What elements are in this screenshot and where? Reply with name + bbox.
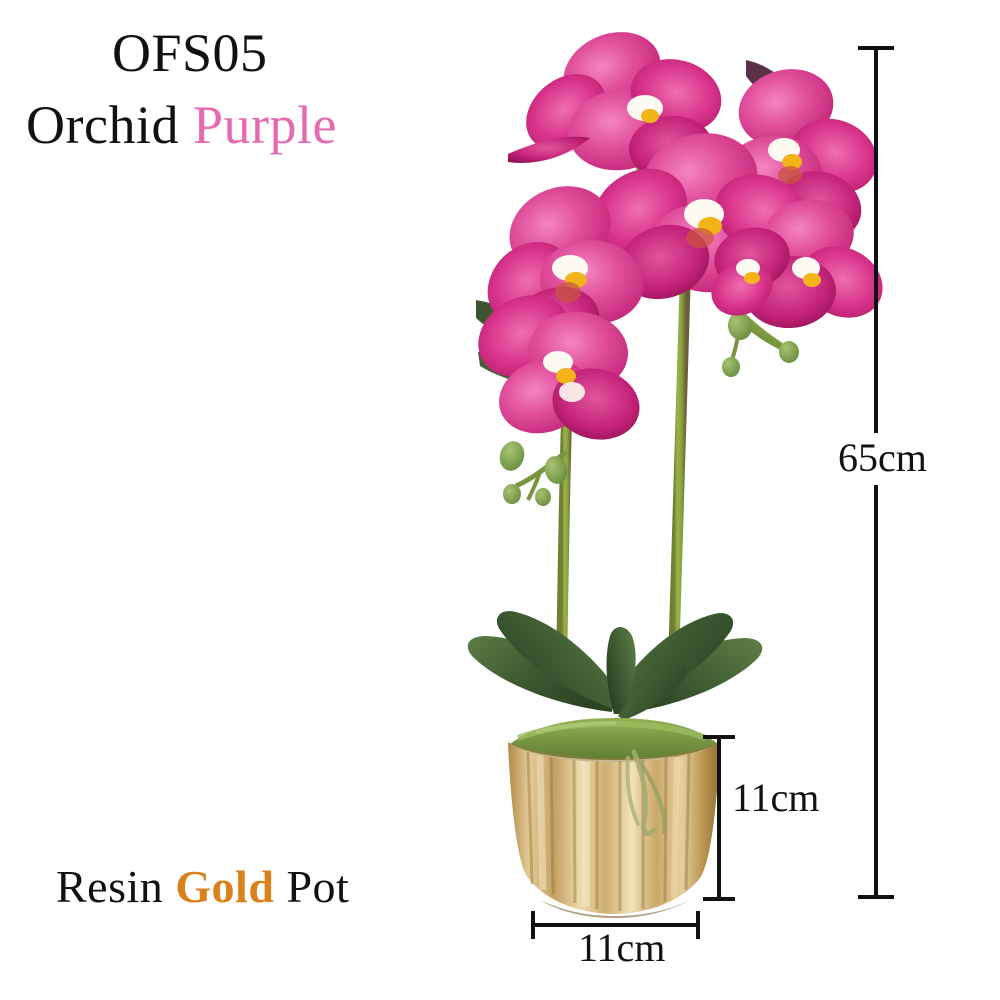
gold-resin-pot bbox=[508, 742, 720, 918]
dimension-cap-65cm-top bbox=[858, 46, 894, 50]
flower-buds-left bbox=[496, 438, 569, 506]
dimension-label-total-height: 65cm bbox=[838, 438, 927, 478]
dimension-line-65cm-lower bbox=[874, 485, 878, 897]
pot-material-prefix: Resin bbox=[56, 861, 163, 912]
product-name-accent: Purple bbox=[193, 95, 337, 155]
product-name-label: Orchid Purple bbox=[26, 98, 337, 152]
dimension-cap-pot-height-top bbox=[703, 735, 735, 739]
orchid-leaves bbox=[468, 611, 762, 720]
dimension-cap-pot-width-right bbox=[696, 911, 700, 939]
dimension-line-65cm-upper bbox=[874, 48, 878, 433]
dimension-cap-pot-height-bottom bbox=[703, 897, 735, 901]
product-photo-canvas: 65cm 11cm 11cm OFS05 Orchid Purple Resin… bbox=[0, 0, 1000, 1000]
pot-material-suffix: Pot bbox=[286, 861, 349, 912]
pot-material-accent: Gold bbox=[175, 861, 274, 912]
dimension-cap-65cm-bottom bbox=[858, 895, 894, 899]
product-name-prefix: Orchid bbox=[26, 95, 179, 155]
product-sku-label: OFS05 bbox=[112, 26, 268, 80]
dimension-line-pot-height bbox=[717, 737, 721, 900]
dimension-label-pot-height: 11cm bbox=[732, 778, 819, 818]
pot-material-label: Resin Gold Pot bbox=[56, 864, 349, 910]
dimension-label-pot-width: 11cm bbox=[578, 928, 665, 968]
dimension-cap-pot-width-left bbox=[531, 911, 535, 939]
